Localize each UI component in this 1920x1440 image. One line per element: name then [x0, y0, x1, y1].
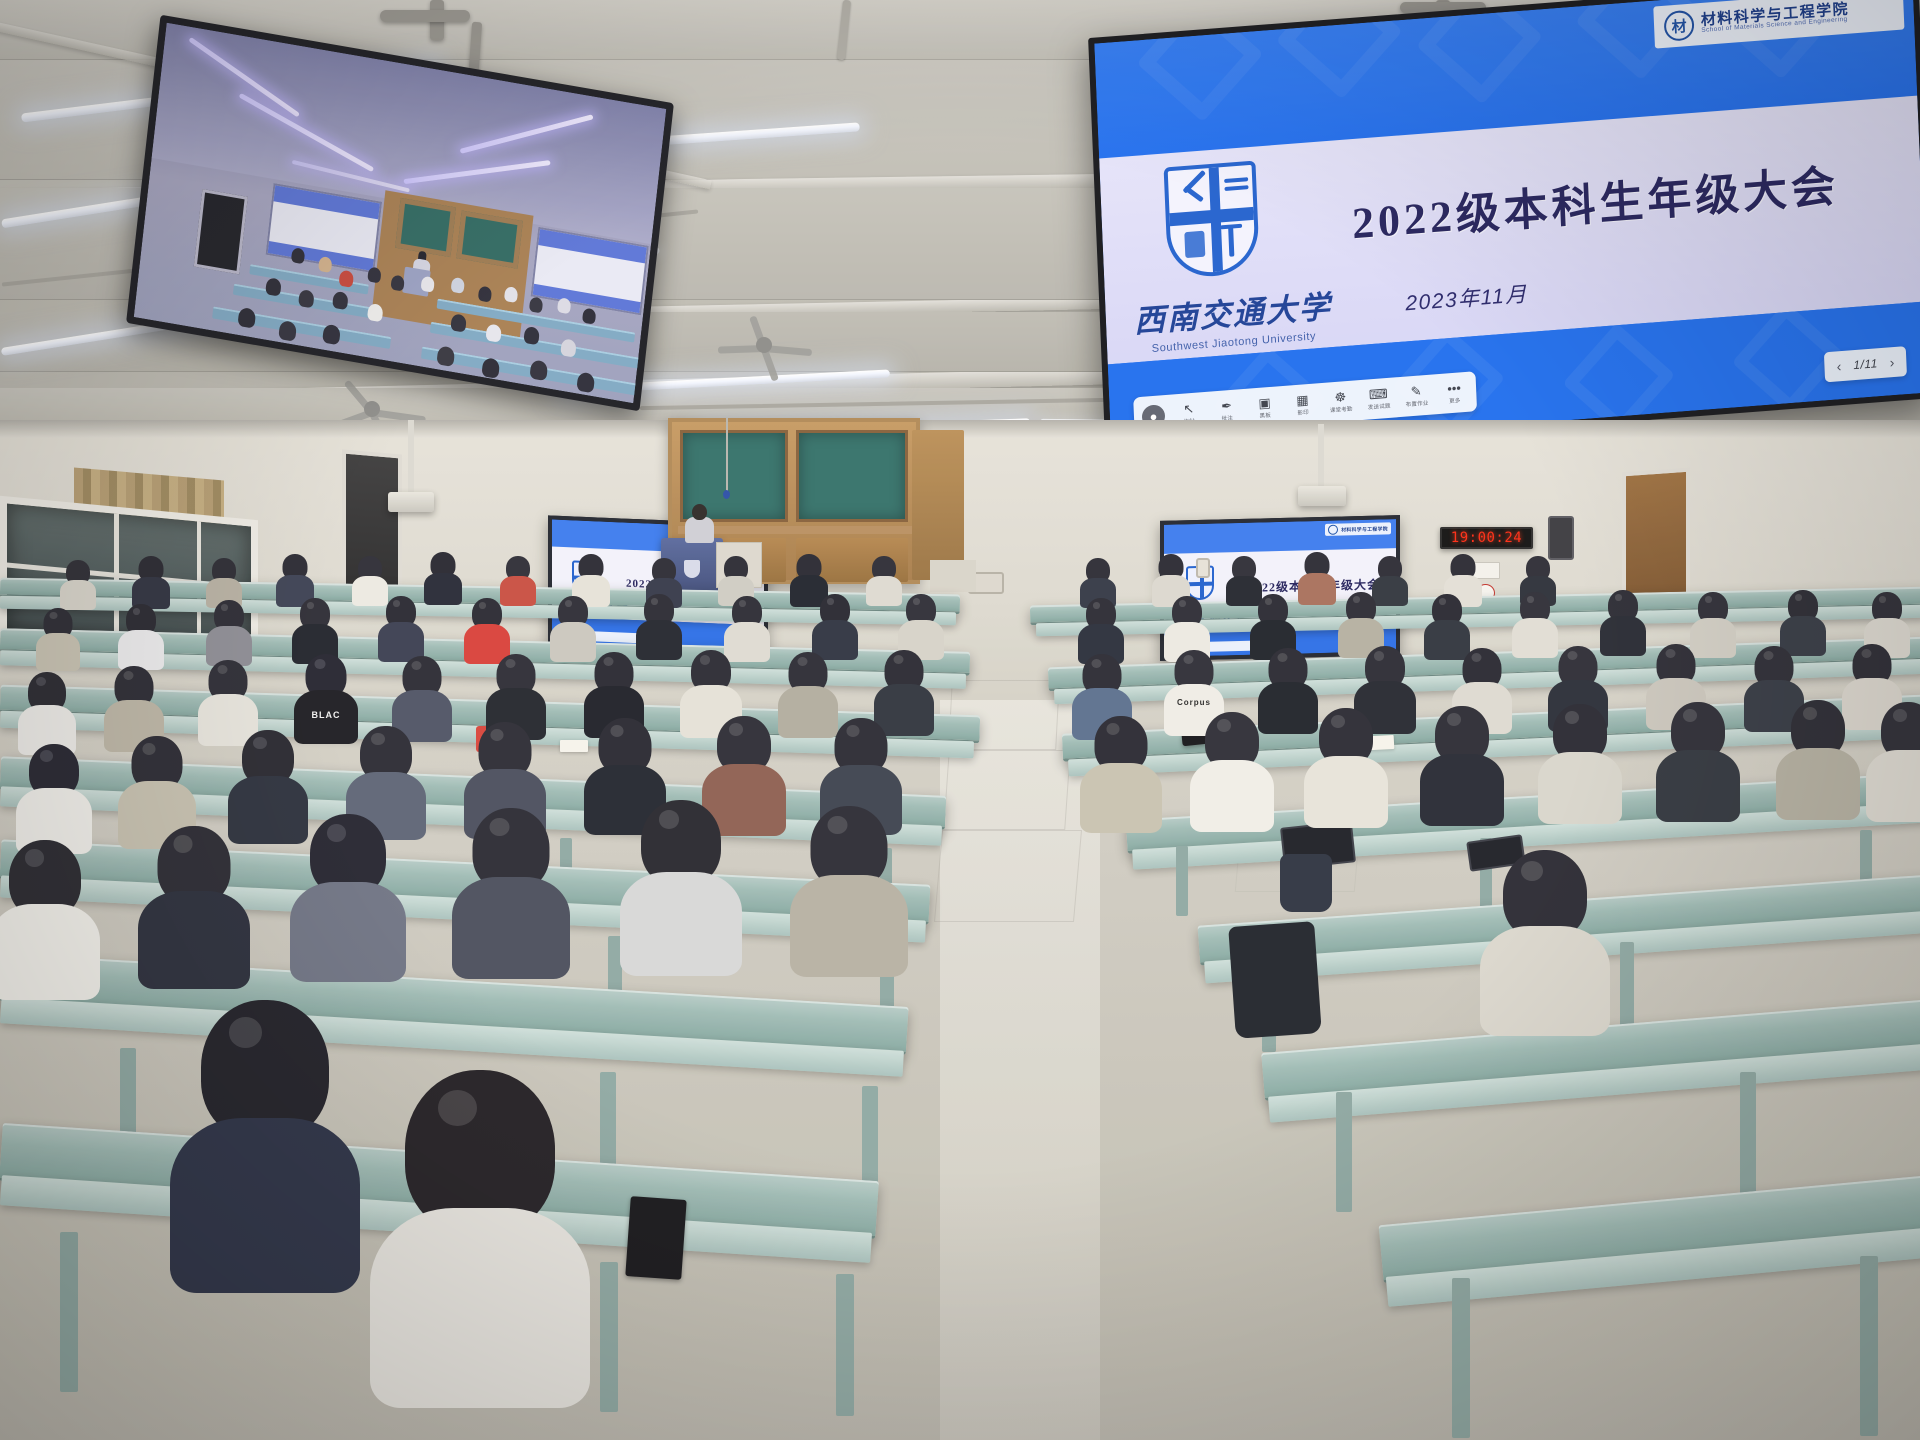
audience-member — [1538, 704, 1622, 814]
wall-cabinet — [912, 430, 964, 580]
pointer-icon: ↖ — [1183, 401, 1194, 415]
projector-left — [388, 492, 434, 512]
audience-member — [392, 656, 452, 734]
backpack — [1228, 921, 1322, 1039]
microphone-icon — [723, 490, 730, 499]
audience-member — [812, 594, 858, 654]
toolbar-item-attendance[interactable]: ☸ 课堂考勤 — [1326, 389, 1355, 414]
audience-member — [1250, 594, 1296, 654]
clock-time: 19:00:24 — [1451, 530, 1522, 546]
audience-member — [378, 596, 424, 656]
audience-member — [118, 736, 196, 840]
audience-member — [290, 814, 406, 970]
attendance-icon: ☸ — [1334, 390, 1346, 404]
right-screen-dept: 材料科学与工程学院 — [1341, 525, 1388, 533]
audience-member — [1338, 592, 1384, 652]
speaker-head — [692, 504, 707, 520]
audience-member — [1420, 706, 1504, 816]
speaker-body — [685, 517, 714, 543]
audience-member — [1866, 702, 1920, 812]
audience-member — [18, 672, 76, 748]
toolbar-item-homework[interactable]: ✎ 布置作业 — [1402, 383, 1431, 408]
audience-member — [1480, 850, 1610, 1020]
audience-member — [0, 840, 100, 990]
wall-speaker — [1548, 516, 1574, 560]
audience-member — [60, 560, 96, 608]
toolbar-label: 影印 — [1297, 407, 1309, 416]
audience-member — [16, 744, 92, 846]
page-indicator: 1/11 — [1853, 356, 1878, 372]
more-icon: ••• — [1447, 381, 1461, 395]
toolbar-label: 发送试题 — [1367, 401, 1390, 411]
toolbar-item-quiz[interactable]: ⌨ 发送试题 — [1364, 386, 1393, 411]
audience-member — [1078, 598, 1124, 658]
audience-member — [898, 594, 944, 654]
audience-member — [790, 806, 908, 964]
audience-member — [1656, 702, 1740, 812]
slide-title: 2022级本科生年级大会 — [1351, 145, 1904, 251]
department-seal-icon: 材 — [1664, 10, 1695, 42]
audience-member: BLAC — [294, 654, 358, 736]
slide-date: 2023年11月 — [1405, 278, 1529, 317]
audience-member — [1424, 594, 1470, 654]
toolbar-item-screen[interactable]: ▦ 影印 — [1288, 392, 1317, 417]
audience-member — [170, 1000, 360, 1280]
audience-member — [206, 600, 252, 660]
audience-member — [276, 554, 314, 604]
audience-member — [36, 608, 80, 666]
screen-icon: ▦ — [1296, 393, 1309, 407]
audience-member — [118, 604, 164, 664]
audience-member — [500, 556, 536, 604]
projector-right — [1298, 486, 1346, 506]
audience-member — [132, 556, 170, 606]
shirt-text: Corpus — [1177, 698, 1211, 707]
swjtu-crest-icon — [1164, 161, 1260, 280]
front-step — [930, 560, 976, 592]
toolbar-label: 布置作业 — [1405, 398, 1428, 408]
audience-member — [1780, 590, 1826, 650]
led-wall-display: 材 材料科学与工程学院 School of Materials Science … — [1088, 0, 1920, 462]
audience-member — [1512, 592, 1558, 652]
prev-slide-icon[interactable]: ‹ — [1836, 359, 1841, 373]
audience-member — [424, 552, 462, 602]
audience-member — [206, 558, 242, 606]
homework-icon: ✎ — [1410, 384, 1421, 398]
audience-member — [104, 666, 164, 744]
audience-member — [636, 594, 682, 654]
audience-member — [138, 826, 250, 978]
audience-member — [620, 800, 742, 962]
audience-member — [370, 1070, 590, 1400]
audience-member — [866, 556, 902, 604]
audience-member — [1190, 712, 1274, 822]
wall-panel — [1196, 558, 1210, 578]
audience-member — [464, 598, 510, 658]
lecture-hall-photo: 材 材料科学与工程学院 School of Materials Science … — [0, 0, 1920, 1440]
audience-member — [486, 654, 546, 732]
toolbar-label: 更多 — [1449, 395, 1461, 404]
audience-member — [1776, 700, 1860, 810]
toolbar-item-blackboard[interactable]: ▣ 黑板 — [1250, 395, 1279, 420]
ceiling-fan — [716, 330, 812, 360]
audience-member — [1164, 596, 1210, 656]
blackboard-icon: ▣ — [1258, 395, 1271, 409]
audience-member — [1298, 552, 1336, 602]
next-slide-icon[interactable]: › — [1889, 355, 1894, 369]
audience-member — [874, 650, 934, 728]
toolbar-label: 课堂考勤 — [1329, 404, 1352, 414]
audience-member — [550, 596, 596, 656]
audience-member — [1864, 592, 1910, 652]
audience-member — [292, 598, 338, 658]
audience-member — [1304, 708, 1388, 818]
presentation-slide: 材 材料科学与工程学院 School of Materials Science … — [1094, 0, 1920, 455]
shirt-text: BLAC — [312, 710, 341, 720]
quiz-icon: ⌨ — [1369, 386, 1388, 400]
door-right[interactable] — [1622, 468, 1690, 609]
smartphone — [625, 1196, 686, 1280]
wall-led-clock: 19:00:24 — [1440, 527, 1533, 549]
slide-pager[interactable]: ‹ 1/11 › — [1824, 346, 1907, 382]
toolbar-label: 黑板 — [1259, 410, 1271, 419]
audience-member — [198, 660, 258, 738]
audience-member — [724, 596, 770, 656]
audience-member — [1690, 592, 1736, 652]
audience-member — [1600, 590, 1646, 650]
backpack — [1280, 854, 1332, 912]
audience-member — [452, 808, 570, 966]
pen-icon: ✒ — [1221, 398, 1232, 412]
university-name-block: 西南交通大学 Southwest Jiaotong University — [1127, 281, 1339, 357]
audience-member — [1080, 716, 1162, 824]
toolbar-item-more[interactable]: ••• 更多 — [1440, 380, 1469, 405]
blackboard-right — [796, 430, 908, 522]
